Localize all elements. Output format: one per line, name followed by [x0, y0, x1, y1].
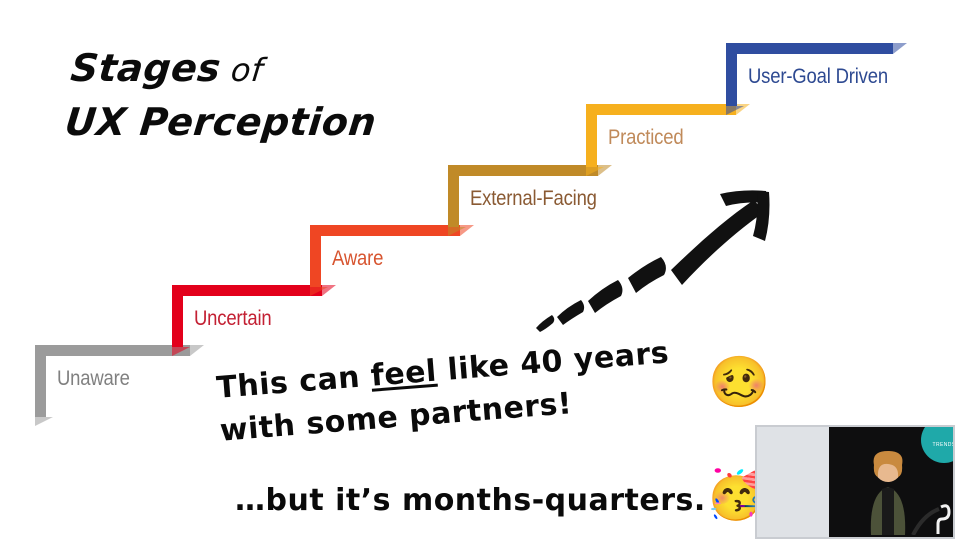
stair-step-unaware-top-bar	[35, 345, 190, 356]
stair-label-user-goal-driven: User-Goal Driven	[748, 65, 888, 89]
annotation-feel-like-40-years: This can feel like 40 years with some pa…	[215, 332, 674, 453]
stair-step-uncertain-top-bar	[172, 285, 322, 296]
woozy-face-emoji-icon: 🥴	[708, 357, 770, 407]
video-left-panel	[757, 427, 829, 537]
event-logo-icon: TRENDS	[921, 425, 955, 463]
stair-step-user-goal-driven-top-bar	[726, 43, 893, 54]
page-title: Stages of UX Perception	[62, 42, 493, 150]
slide-canvas: Stages of UX Perception Unaware Uncertai…	[0, 0, 955, 539]
stair-step-unaware-riser	[35, 345, 46, 417]
stair-label-practiced: Practiced	[608, 126, 683, 150]
stair-step-aware-riser	[310, 225, 321, 287]
annotation-line-1-prefix: This can	[215, 359, 372, 406]
stair-step-aware-top-bar	[310, 225, 460, 236]
title-word-stages: Stages	[69, 46, 223, 90]
title-word-of: of	[219, 51, 266, 89]
video-stage-area: TRENDS	[829, 427, 953, 537]
microphone-stand-icon	[907, 495, 955, 535]
hand-drawn-upward-arrow-icon	[528, 178, 773, 343]
stair-step-user-goal-driven-riser	[726, 43, 737, 106]
stair-label-uncertain: Uncertain	[194, 307, 272, 331]
stair-label-unaware: Unaware	[57, 367, 130, 391]
stair-step-external-facing-top-bar	[448, 165, 598, 176]
title-line-two: UX Perception	[62, 96, 488, 150]
stair-step-practiced-top-bar	[586, 104, 736, 115]
stair-step-uncertain-riser	[172, 285, 183, 347]
annotation-months-quarters: …but it’s months-quarters.	[235, 483, 706, 518]
annotation-underlined-feel: feel	[369, 354, 438, 394]
stair-step-external-facing-riser	[448, 165, 459, 227]
stair-step-practiced-riser	[586, 104, 597, 167]
stair-label-aware: Aware	[332, 247, 383, 271]
speaker-video-overlay[interactable]: TRENDS	[755, 425, 955, 539]
